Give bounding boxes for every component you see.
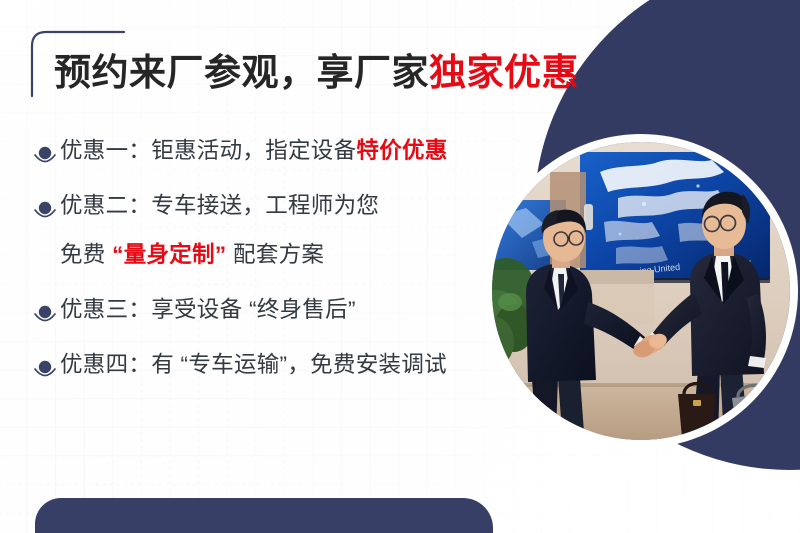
page-title: 预约来厂参观，享厂家独家优惠 — [54, 52, 579, 95]
list-item-text: 优惠四：有 “专车运输”，免费安装调试 — [60, 350, 500, 380]
bullet-text: 配套方案 — [226, 242, 324, 267]
list-item-text: 优惠一：钜惠活动，指定设备特价优惠 — [60, 136, 500, 166]
page-title-highlight: 独家优惠 — [429, 52, 579, 93]
handshake-business-photo: ing United ited — [492, 142, 790, 440]
eye-bullet-icon — [30, 355, 60, 385]
bullet-text: 优惠二：专车接送，工程师为您 — [60, 193, 379, 218]
benefits-list: 优惠一：钜惠活动，指定设备特价优惠 优惠二：专车接送，工程师为您 免费 “量身定… — [30, 136, 500, 405]
photo-circle-frame: ing United ited — [484, 134, 798, 448]
photo-illustration: ing United ited — [492, 142, 790, 440]
bullet-line: 优惠三：享受设备 “终身售后” — [60, 295, 500, 325]
page-title-plain: 预约来厂参观，享厂家 — [54, 52, 429, 93]
bullet-text-red: 特价优惠 — [356, 138, 447, 163]
list-item: 优惠四：有 “专车运输”，免费安装调试 — [30, 350, 500, 385]
poster-canvas: ing United ited — [0, 0, 800, 533]
list-item: 优惠三：享受设备 “终身售后” — [30, 295, 500, 330]
eye-bullet-icon — [30, 196, 60, 226]
bullet-text: 优惠三：享受设备 “终身售后” — [60, 297, 356, 322]
list-item: 优惠一：钜惠活动，指定设备特价优惠 — [30, 136, 500, 171]
bullet-text: 免费 — [60, 242, 112, 267]
list-item-text: 优惠三：享受设备 “终身售后” — [60, 295, 500, 325]
bullet-line: 优惠四：有 “专车运输”，免费安装调试 — [60, 350, 500, 380]
list-item: 优惠二：专车接送，工程师为您 免费 “量身定制” 配套方案 — [30, 191, 500, 271]
bullet-line: 免费 “量身定制” 配套方案 — [60, 240, 500, 270]
eye-bullet-icon — [30, 141, 60, 171]
eye-bullet-icon — [30, 300, 60, 330]
bullet-text: 优惠一：钜惠活动，指定设备 — [60, 138, 356, 163]
list-item-text: 优惠二：专车接送，工程师为您 免费 “量身定制” 配套方案 — [60, 191, 500, 271]
bullet-text-red: “量身定制” — [112, 242, 226, 267]
navy-bottom-bar — [35, 498, 493, 533]
bullet-text: 优惠四：有 “专车运输”，免费安装调试 — [60, 352, 447, 377]
bullet-line: 优惠二：专车接送，工程师为您 — [60, 191, 500, 221]
bullet-line: 优惠一：钜惠活动，指定设备特价优惠 — [60, 136, 500, 166]
